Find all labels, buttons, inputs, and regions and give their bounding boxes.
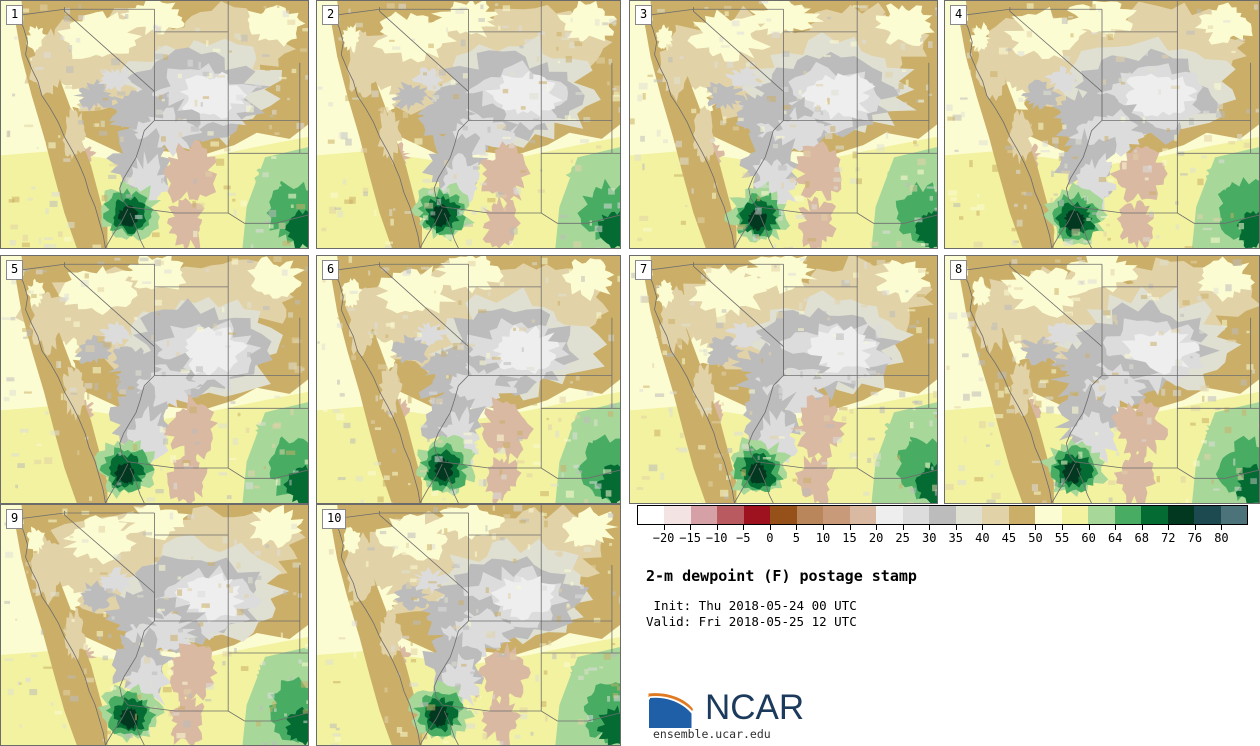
map-panel-5[interactable]: 5 [0,255,309,504]
panel-number-label: 8 [950,260,967,280]
colorbar-cell-3 [717,506,743,524]
colorbar-tick-6 [823,525,824,530]
dewpoint-field-8 [945,256,1259,503]
colorbar: −20−15−10−505101520253035404550556064687… [637,505,1248,547]
colorbar-tick-label-14: 50 [1028,531,1042,545]
dewpoint-field-9 [1,505,308,745]
map-panel-10[interactable]: 10 [316,504,621,746]
colorbar-tick-label-1: −15 [679,531,701,545]
dewpoint-field-4 [945,1,1259,248]
colorbar-tick-4 [770,525,771,530]
colorbar-tick-label-18: 68 [1135,531,1149,545]
colorbar-tick-10 [929,525,930,530]
colorbar-tick-label-2: −10 [706,531,728,545]
colorbar-cell-5 [770,506,796,524]
colorbar-tick-label-0: −20 [653,531,675,545]
colorbar-cell-16 [1062,506,1088,524]
colorbar-tick-15 [1062,525,1063,530]
colorbar-tick-label-20: 76 [1188,531,1202,545]
colorbar-cell-7 [823,506,849,524]
panel-number-label: 3 [635,5,652,25]
colorbar-tick-20 [1195,525,1196,530]
colorbar-tick-labels: −20−15−10−505101520253035404550556064687… [637,531,1248,547]
colorbar-tick-label-4: 0 [766,531,773,545]
colorbar-tick-3 [743,525,744,530]
colorbar-tick-21 [1221,525,1222,530]
colorbar-tick-19 [1168,525,1169,530]
valid-time-label: Valid: Fri 2018-05-25 12 UTC [646,614,1246,630]
colorbar-tick-label-8: 20 [869,531,883,545]
init-time-label: Init: Thu 2018-05-24 00 UTC [646,598,1246,614]
colorbar-tick-label-6: 10 [816,531,830,545]
panel-number-label: 7 [635,260,652,280]
colorbar-tick-label-11: 35 [949,531,963,545]
colorbar-cell-10 [903,506,929,524]
ncar-wordmark: NCAR [705,688,804,728]
ncar-logo-block: NCAR ensemble.ucar.edu [647,685,947,741]
colorbar-tick-17 [1115,525,1116,530]
colorbar-cell-8 [850,506,876,524]
colorbar-tick-label-9: 25 [895,531,909,545]
colorbar-tick-label-17: 64 [1108,531,1122,545]
dewpoint-field-10 [317,505,620,745]
colorbar-cell-17 [1088,506,1114,524]
colorbar-cell-9 [876,506,902,524]
colorbar-tick-14 [1035,525,1036,530]
colorbar-tick-1 [690,525,691,530]
panel-number-label: 9 [6,509,23,529]
dewpoint-field-3 [630,1,937,248]
map-panel-7[interactable]: 7 [629,255,938,504]
colorbar-cell-19 [1141,506,1167,524]
dewpoint-field-5 [1,256,308,503]
panel-number-label: 5 [6,260,23,280]
page-title: 2-m dewpoint (F) postage stamp [646,566,1246,586]
colorbar-tick-0 [664,525,665,530]
colorbar-cell-18 [1115,506,1141,524]
map-panel-6[interactable]: 6 [316,255,621,504]
colorbar-tick-label-10: 30 [922,531,936,545]
colorbar-tick-8 [876,525,877,530]
dewpoint-field-7 [630,256,937,503]
colorbar-cell-13 [982,506,1008,524]
panel-number-label: 2 [322,5,339,25]
colorbar-tick-label-15: 55 [1055,531,1069,545]
colorbar-cell-14 [1009,506,1035,524]
panel-number-label: 10 [322,509,346,529]
colorbar-cell-0 [638,506,664,524]
panel-number-label: 6 [322,260,339,280]
colorbar-cell-6 [797,506,823,524]
colorbar-tick-12 [982,525,983,530]
colorbar-tick-label-21: 80 [1214,531,1228,545]
map-panel-2[interactable]: 2 [316,0,621,249]
colorbar-tick-label-19: 72 [1161,531,1175,545]
colorbar-tick-2 [717,525,718,530]
colorbar-tick-label-7: 15 [842,531,856,545]
ncar-logo-icon [647,686,701,730]
colorbar-strip [637,505,1248,525]
colorbar-cell-20 [1168,506,1194,524]
colorbar-tick-label-16: 60 [1081,531,1095,545]
panel-number-label: 4 [950,5,967,25]
map-panel-9[interactable]: 9 [0,504,309,746]
dewpoint-field-2 [317,1,620,248]
colorbar-tick-label-3: −5 [736,531,750,545]
map-panel-4[interactable]: 4 [944,0,1260,249]
dewpoint-field-1 [1,1,308,248]
map-panel-8[interactable]: 8 [944,255,1260,504]
colorbar-cell-2 [691,506,717,524]
colorbar-cell-15 [1035,506,1061,524]
colorbar-tick-5 [796,525,797,530]
colorbar-cell-12 [956,506,982,524]
ensemble-url-label: ensemble.ucar.edu [653,727,947,741]
colorbar-tick-16 [1089,525,1090,530]
panel-number-label: 1 [6,5,23,25]
colorbar-tick-label-12: 40 [975,531,989,545]
colorbar-cell-21 [1194,506,1220,524]
colorbar-cell-22 [1221,506,1247,524]
colorbar-tick-label-13: 45 [1002,531,1016,545]
map-panel-1[interactable]: 1 [0,0,309,249]
colorbar-tick-7 [850,525,851,530]
postage-stamp-panel-grid: 12345678910 [0,0,1260,746]
colorbar-tick-18 [1142,525,1143,530]
map-panel-3[interactable]: 3 [629,0,938,249]
colorbar-cell-1 [664,506,690,524]
colorbar-tick-label-5: 5 [793,531,800,545]
dewpoint-field-6 [317,256,620,503]
colorbar-tick-13 [1009,525,1010,530]
colorbar-cell-4 [744,506,770,524]
colorbar-cell-11 [929,506,955,524]
colorbar-tick-9 [903,525,904,530]
colorbar-tick-11 [956,525,957,530]
figure-info-block: 2-m dewpoint (F) postage stamp Init: Thu… [646,566,1246,630]
